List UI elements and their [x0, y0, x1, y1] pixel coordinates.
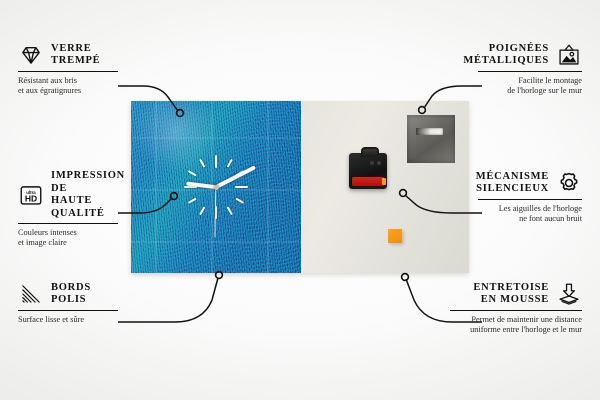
clock-dial — [131, 101, 301, 273]
callout-rule — [478, 199, 582, 200]
ultra-hd-icon: ultra HD — [18, 182, 44, 208]
callout-title: IMPRESSION DE HAUTE QUALITÉ — [51, 170, 125, 220]
callout-rule — [18, 71, 118, 72]
callout-header: BORDS POLIS — [18, 281, 120, 307]
foam-spacer — [388, 229, 402, 243]
battery-terminal — [382, 178, 386, 185]
product-photo — [131, 101, 469, 273]
callout-rule — [478, 71, 582, 72]
callout-header: ultra HD IMPRESSION DE HAUTE QUALITÉ — [18, 170, 120, 220]
callout-header: MÉCANISME SILENCIEUX — [478, 170, 582, 196]
callout-subtitle: Surface lisse et sûre — [18, 315, 120, 325]
hanger-slot — [416, 128, 443, 135]
callout-header: ENTRETOISE EN MOUSSE — [450, 281, 582, 307]
clock-hub — [214, 185, 219, 190]
callout-rule — [450, 310, 582, 311]
callout-title: POIGNÉES MÉTALLIQUES — [463, 43, 549, 68]
battery — [352, 177, 384, 186]
callout-poignees-metalliques[interactable]: POIGNÉES MÉTALLIQUES Facilite le montage… — [478, 42, 582, 96]
movement-screw-left — [370, 161, 374, 165]
callout-title: VERRE TREMPÉ — [51, 43, 100, 68]
metal-hanger-bracket — [407, 115, 455, 163]
callout-verre-trempe[interactable]: VERRE TREMPÉ Résistant aux bris et aux é… — [18, 42, 120, 96]
diamond-icon — [18, 42, 44, 68]
callout-mecanisme-silencieux[interactable]: MÉCANISME SILENCIEUX Les aiguilles de l'… — [478, 170, 582, 224]
clock-front-panel — [131, 101, 301, 273]
callout-subtitle: Couleurs intenses et image claire — [18, 228, 120, 248]
movement-hanging-loop — [361, 147, 379, 157]
clock-movement-mechanism — [349, 153, 387, 189]
callout-header: VERRE TREMPÉ — [18, 42, 120, 68]
wire-dot-entretoise — [402, 274, 409, 281]
clock-back-panel — [301, 101, 469, 273]
polished-edge-icon — [18, 281, 44, 307]
callout-header: POIGNÉES MÉTALLIQUES — [478, 42, 582, 68]
hanging-frame-icon — [556, 42, 582, 68]
wire-bords-polis — [118, 278, 218, 322]
callout-bords-polis[interactable]: BORDS POLIS Surface lisse et sûre — [18, 281, 120, 325]
movement-screw-right — [377, 161, 381, 165]
callout-title: MÉCANISME SILENCIEUX — [476, 171, 549, 196]
gear-icon — [556, 170, 582, 196]
infographic-canvas: VERRE TREMPÉ Résistant aux bris et aux é… — [0, 0, 600, 400]
callout-title: BORDS POLIS — [51, 282, 91, 307]
callout-rule — [18, 310, 118, 311]
callout-rule — [18, 223, 118, 224]
callout-subtitle: Facilite le montage de l'horloge sur le … — [478, 76, 582, 96]
callout-subtitle: Résistant aux bris et aux égratignures — [18, 76, 120, 96]
callout-title: ENTRETOISE EN MOUSSE — [473, 282, 549, 307]
callout-subtitle: Permet de maintenir une distance uniform… — [450, 315, 582, 335]
callout-subtitle: Les aiguilles de l'horloge ne font aucun… — [478, 204, 582, 224]
callout-entretoise-en-mousse[interactable]: ENTRETOISE EN MOUSSE Permet de maintenir… — [450, 281, 582, 335]
svg-text:HD: HD — [25, 194, 37, 204]
callout-impression-haute-qualite[interactable]: ultra HD IMPRESSION DE HAUTE QUALITÉ Cou… — [18, 170, 120, 248]
down-arrow-stack-icon — [556, 281, 582, 307]
